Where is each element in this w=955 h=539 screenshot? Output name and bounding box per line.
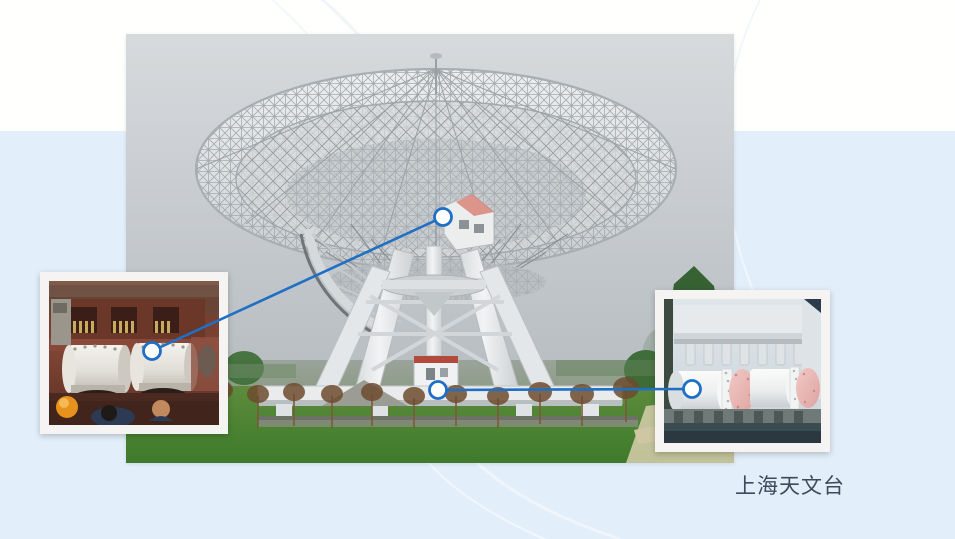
drum-front	[668, 369, 755, 413]
inset-photo-right	[655, 290, 830, 452]
caption-observatory-name: 上海天文台	[735, 470, 845, 500]
inset-photo-left	[40, 272, 228, 434]
slide-canvas: 上海天文台	[0, 0, 955, 539]
inset-left-image	[49, 281, 219, 425]
inset-right-image	[664, 299, 821, 443]
inset-right-contents	[664, 299, 821, 443]
inset-left-contents	[49, 281, 219, 425]
drum-back	[750, 367, 820, 409]
